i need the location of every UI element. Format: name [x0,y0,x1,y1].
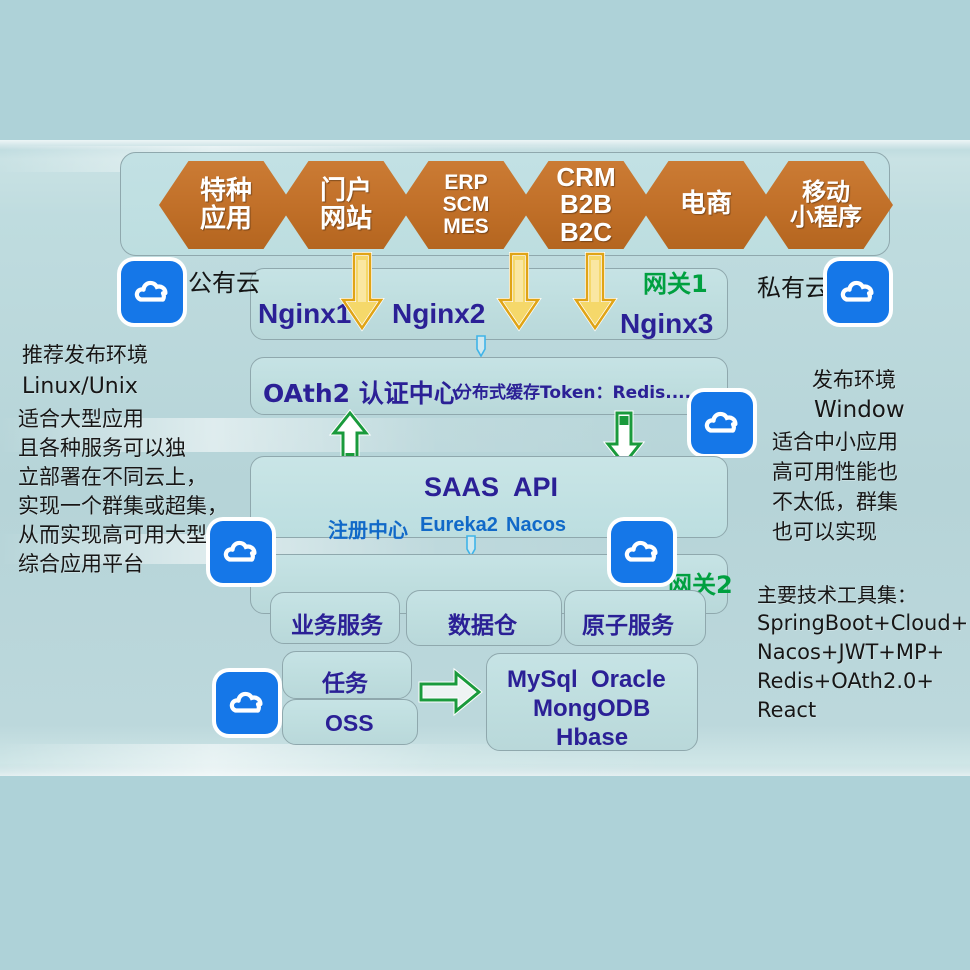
private-cloud-label: 私有云 [757,268,829,303]
hexagon-label: 移动小程序 [790,180,862,230]
datastore-line-2: MongODB [533,695,650,723]
hexagon-ecommerce[interactable]: 电商 [639,161,773,249]
public-cloud-icon [121,261,183,323]
tech-note-heading: 主要技术工具集： [757,581,917,609]
nginx3-label[interactable]: Nginx3 [620,308,713,340]
saas-api-title: SAAS API [424,472,558,503]
arrow-down-yellow-icon [340,252,384,332]
cloud-glyph [130,275,174,309]
registry-label: 注册中心 [328,514,408,543]
left-note-heading: 推荐发布环境 [22,341,148,369]
nginx2-label[interactable]: Nginx2 [392,298,485,330]
left-note-os: Linux/Unix [22,373,138,401]
application-layer-panel: 特种应用 门户网站 ERPSCMMES CRMB2BB2C 电商 移动小程序 [120,152,890,256]
private-cloud-icon [827,261,889,323]
right-note-body: 适合中小应用 高可用性能也 不太低，群集 也可以实现 [772,427,898,547]
cloud-glyph [700,406,744,440]
oss-label: OSS [325,710,374,737]
oauth2-title: OAth2 认证中心 [263,374,459,410]
cloud-glyph [620,535,664,569]
service-label-atomic: 原子服务 [582,606,674,640]
token-cache-subtitle: 分布式缓存Token：Redis.... [455,378,691,403]
registry-nacos[interactable]: Nacos [506,514,566,537]
hexagon-mobile-miniprogram[interactable]: 移动小程序 [759,161,893,249]
cloud-glyph [225,686,269,720]
right-note-os: Window [814,396,905,424]
gateway1-label: 网关1 [643,264,708,299]
hexagon-label: 特种应用 [200,177,252,234]
hexagon-label: CRMB2BB2C [556,164,615,246]
arrow-down-yellow-icon [497,252,541,332]
service-label-datawarehouse: 数据仓 [448,606,517,640]
task-label: 任务 [322,664,368,698]
connector-icon [473,336,489,358]
auth-cloud-icon [691,392,753,454]
cloud-glyph [836,275,880,309]
arrow-down-yellow-icon [573,252,617,332]
service-cloud-icon-right [611,521,673,583]
hexagon-label: ERPSCMMES [443,172,490,238]
hexagon-label: 电商 [680,191,732,218]
service-cloud-icon-bottom [216,672,278,734]
hexagon-label: 门户网站 [320,177,372,234]
public-cloud-label: 公有云 [188,263,260,298]
registry-eureka2[interactable]: Eureka2 [420,514,498,537]
service-label-business: 业务服务 [291,606,383,640]
left-note-body: 适合大型应用 且各种服务可以独 立部署在不同云上， 实现一个群集或超集， 从而实… [18,405,228,579]
datastore-line-1: MySql Oracle [507,666,666,694]
hexagon-crm-b2b-b2c[interactable]: CRMB2BB2C [519,161,653,249]
hexagon-erp-scm-mes[interactable]: ERPSCMMES [399,161,533,249]
hexagon-special-app[interactable]: 特种应用 [159,161,293,249]
arrow-right-green-icon [418,668,482,716]
nginx1-label[interactable]: Nginx1 [258,298,351,330]
right-note-heading: 发布环境 [812,366,896,394]
tech-note-body: SpringBoot+Cloud+ Nacos+JWT+MP+ Redis+OA… [757,609,968,725]
diagram-canvas: 特种应用 门户网站 ERPSCMMES CRMB2BB2C 电商 移动小程序 N… [0,0,970,970]
hexagon-portal-site[interactable]: 门户网站 [279,161,413,249]
datastore-line-3: Hbase [556,724,628,752]
